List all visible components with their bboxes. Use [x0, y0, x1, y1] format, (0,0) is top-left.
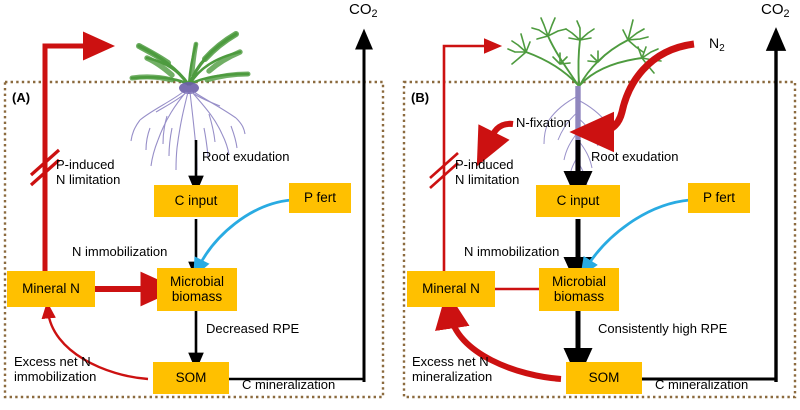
mineral-n-box-a[interactable]: Mineral N — [7, 271, 95, 307]
p-induced-n-limitation-label-a: P-induced N limitation — [56, 158, 120, 187]
mineral-n-box-b[interactable]: Mineral N — [407, 271, 495, 307]
root-exudation-label-a: Root exudation — [202, 150, 289, 165]
som-box-a[interactable]: SOM — [153, 362, 229, 394]
n2-fixation-arrow-b — [596, 44, 694, 132]
excess-net-n-label-b: Excess net N mineralization — [412, 355, 492, 384]
som-box-b[interactable]: SOM — [566, 362, 642, 394]
rpe-label-b: Consistently high RPE — [598, 322, 727, 337]
figure-canvas: (A) CO2 P-induced N limitation Root exud… — [0, 0, 800, 410]
excess-net-n-label-a: Excess net N immobilization — [14, 355, 96, 384]
co2-label-a: CO2 — [349, 2, 378, 20]
p-fert-box-a[interactable]: P fert — [289, 183, 351, 213]
c-input-box-a[interactable]: C input — [154, 185, 238, 217]
panel-tag-b: (B) — [411, 90, 429, 105]
microbial-biomass-box-a[interactable]: Microbial biomass — [157, 268, 237, 311]
c-mineralization-label-b: C mineralization — [655, 378, 748, 393]
p-induced-n-limitation-label-b: P-induced N limitation — [455, 158, 519, 187]
n-immobilization-label-b: N immobilization — [464, 245, 559, 260]
n-fixation-label-b: N-fixation — [516, 116, 571, 131]
c-mineralization-label-a: C mineralization — [242, 378, 335, 393]
root-exudation-label-b: Root exudation — [591, 150, 678, 165]
n2-label-b: N2 — [709, 36, 725, 54]
rpe-label-a: Decreased RPE — [206, 322, 299, 337]
c-input-box-b[interactable]: C input — [536, 185, 620, 217]
n-fixation-to-limitation-arrow-b — [487, 124, 513, 146]
p-fert-box-b[interactable]: P fert — [688, 183, 750, 213]
n-immobilization-label-a: N immobilization — [72, 245, 167, 260]
diagram-vector-layer — [0, 0, 800, 410]
panel-tag-a: (A) — [12, 90, 30, 105]
co2-label-b: CO2 — [761, 2, 790, 20]
microbial-biomass-box-b[interactable]: Microbial biomass — [539, 268, 619, 311]
